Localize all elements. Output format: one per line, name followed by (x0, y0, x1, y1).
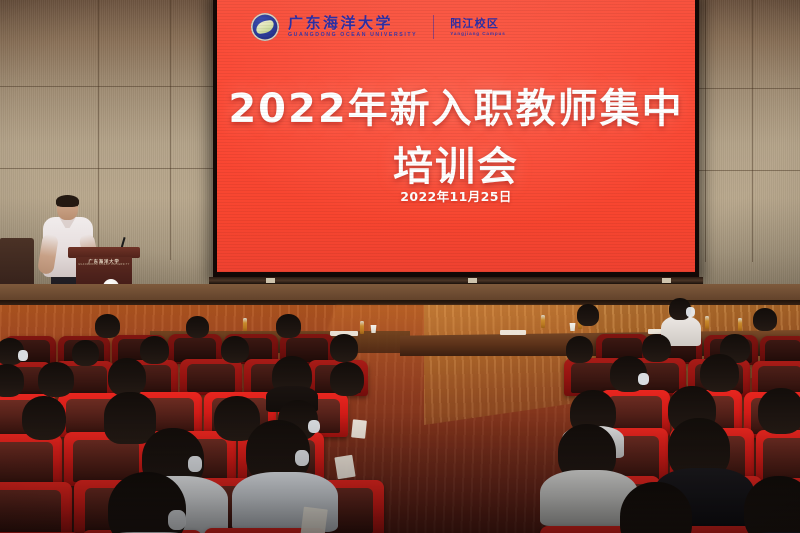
screen-scanlines (217, 0, 695, 272)
auditorium-photo: 广东海洋大学 GUANGDONG OCEAN UNIVERSITY 阳江校区 Y… (0, 0, 800, 533)
document-sheet (300, 507, 327, 533)
led-screen: 广东海洋大学 GUANGDONG OCEAN UNIVERSITY 阳江校区 Y… (217, 0, 695, 272)
led-screen-bezel: 广东海洋大学 GUANGDONG OCEAN UNIVERSITY 阳江校区 Y… (213, 0, 699, 280)
audience-seating (0, 300, 800, 533)
seat (0, 434, 62, 488)
screen-mount-clip (662, 278, 671, 283)
seat (180, 359, 242, 395)
screen-mount-clip (266, 278, 275, 283)
podium-university-en: GUANGDONG OCEAN UNIVERSITY (76, 264, 132, 266)
side-cabinet (0, 238, 34, 290)
document-sheet (351, 419, 367, 438)
speaker-hair (56, 195, 79, 207)
document-sheet (334, 455, 355, 480)
seat (0, 482, 72, 533)
screen-bottom-frame (209, 277, 703, 284)
screen-mount-clip (468, 278, 477, 283)
